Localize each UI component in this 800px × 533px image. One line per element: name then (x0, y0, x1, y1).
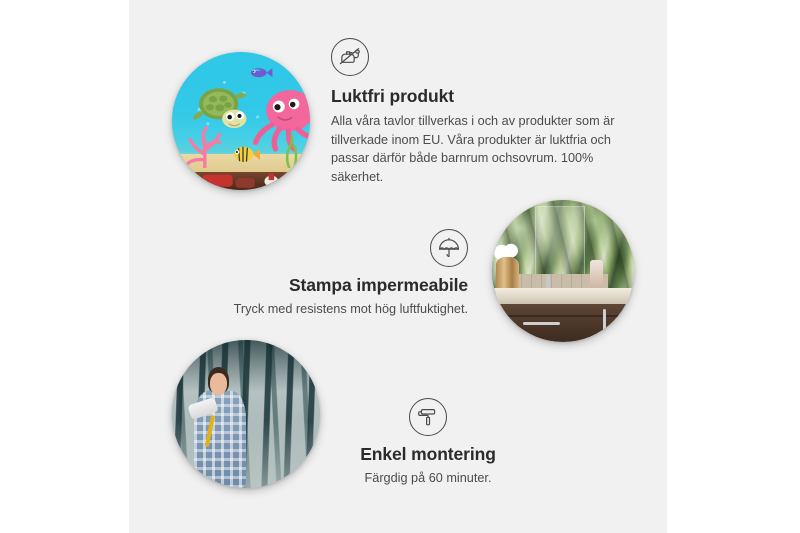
feature-2-icon-wrap (180, 229, 468, 267)
cabinet-handle-right (603, 309, 606, 333)
product-feature-infographic: Luktfri produkt Alla våra tavlor tillver… (0, 0, 800, 533)
feature-3-body: Färgdig på 60 minuter. (318, 469, 538, 488)
cabinet-handle-left (523, 322, 560, 325)
yellow-fish-icon (230, 140, 260, 168)
feature-image-underwater-kids-scene (172, 52, 310, 190)
feature-1-icon-wrap (331, 38, 623, 76)
feature-2-body: Tryck med resistens mot hög luftfuktighe… (180, 300, 468, 319)
vanity-cabinet (492, 304, 634, 342)
feature-block-3: Enkel montering Färgdig på 60 minuter. (318, 398, 538, 488)
feature-1-title: Luktfri produkt (331, 86, 623, 107)
feature-1-body: Alla våra tavlor tillverkas i och av pro… (331, 112, 623, 186)
feature-3-icon-wrap (318, 398, 538, 436)
vanity-countertop (492, 288, 634, 305)
umbrella-icon (430, 229, 468, 267)
paint-roller-icon (409, 398, 447, 436)
purple-fish-icon (248, 63, 273, 82)
feature-image-forest-mural-painter-scene (172, 340, 320, 488)
coral-icon (180, 121, 230, 168)
underwater-scene (172, 52, 310, 190)
cabinet-seam (501, 315, 626, 317)
seaweed-icon (280, 129, 302, 168)
bathroom-scene (492, 200, 634, 342)
shipwreck-icon (172, 168, 310, 190)
painter-person (193, 367, 276, 488)
feature-block-1: Luktfri produkt Alla våra tavlor tillver… (331, 38, 623, 186)
feature-block-2: Stampa impermeabile Tryck med resistens … (180, 229, 468, 319)
feature-image-bathroom-tropical-wallpaper-scene (492, 200, 634, 342)
feature-3-title: Enkel montering (318, 444, 538, 465)
soap-bottle (590, 260, 603, 288)
no-fragrance-icon (331, 38, 369, 76)
face (210, 373, 227, 395)
forest-scene (172, 340, 320, 488)
feature-2-title: Stampa impermeabile (180, 275, 468, 296)
